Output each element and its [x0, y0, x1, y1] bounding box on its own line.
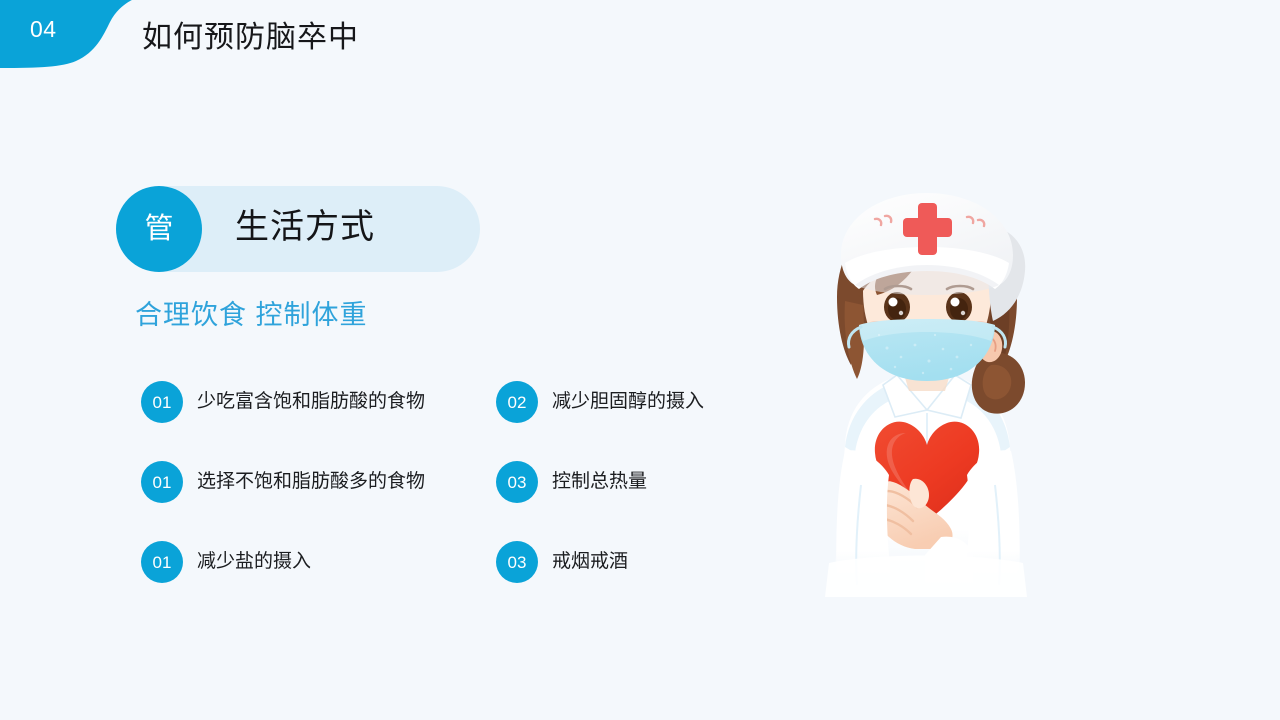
list-item: 03 戒烟戒酒	[496, 522, 781, 602]
point-number-badge: 02	[496, 381, 538, 423]
point-number-badge: 03	[496, 461, 538, 503]
point-label: 减少盐的摄入	[197, 550, 311, 575]
list-item: 01 选择不饱和脂肪酸多的食物	[141, 442, 496, 522]
list-item: 01 少吃富含饱和脂肪酸的食物	[141, 362, 496, 442]
point-label: 选择不饱和脂肪酸多的食物	[197, 470, 425, 495]
point-number-badge: 01	[141, 461, 183, 503]
section-subtitle: 合理饮食 控制体重	[135, 299, 368, 333]
points-grid: 01 少吃富含饱和脂肪酸的食物 02 减少胆固醇的摄入 01 选择不饱和脂肪酸多…	[141, 362, 781, 602]
point-number-badge: 03	[496, 541, 538, 583]
section-number: 04	[30, 18, 57, 41]
page-title: 如何预防脑卒中	[142, 19, 359, 57]
list-item: 02 减少胆固醇的摄入	[496, 362, 781, 442]
lifestyle-badge-circle: 管	[116, 186, 202, 272]
lifestyle-badge-circle-label: 管	[144, 215, 173, 244]
point-number-badge: 01	[141, 541, 183, 583]
list-item: 01 减少盐的摄入	[141, 522, 496, 602]
list-item: 03 控制总热量	[496, 442, 781, 522]
point-label: 戒烟戒酒	[552, 550, 628, 575]
point-label: 控制总热量	[552, 470, 647, 495]
point-label: 减少胆固醇的摄入	[552, 390, 704, 415]
header-corner-shape	[0, 0, 132, 68]
nurse-holding-heart-illustration	[775, 185, 1075, 605]
point-label: 少吃富含饱和脂肪酸的食物	[197, 390, 425, 415]
lifestyle-badge-title: 生活方式	[235, 206, 375, 249]
point-number-badge: 01	[141, 381, 183, 423]
